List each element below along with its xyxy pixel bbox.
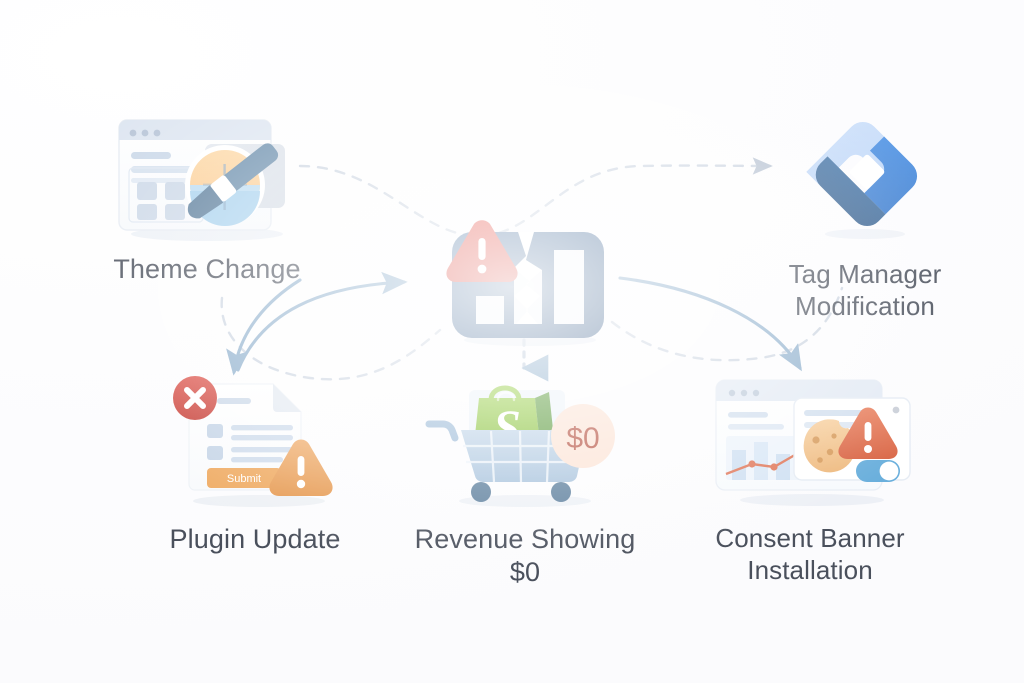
node-plugin-update[interactable]: Submit Plugin Update xyxy=(140,368,370,556)
node-label-consent-banner-installation: Consent Banner Installation xyxy=(715,523,904,586)
broken-bar-chart-warning-icon xyxy=(430,218,620,346)
node-label-theme-change: Theme Change xyxy=(113,253,300,286)
tag-manager-art xyxy=(800,112,930,247)
consent-banner-art xyxy=(700,368,920,513)
browser-cookie-consent-icon xyxy=(700,368,920,508)
revenue-badge-label: $0 xyxy=(566,422,599,455)
plugin-update-art: Submit xyxy=(155,368,355,513)
node-theme-change[interactable]: Theme Change xyxy=(92,112,322,286)
diagram-canvas: Theme Change xyxy=(0,0,1024,683)
node-broken-analytics[interactable] xyxy=(430,218,620,351)
node-label-revenue-showing-zero: Revenue Showing $0 xyxy=(405,523,645,589)
submit-button-label: Submit xyxy=(227,473,261,485)
broken-analytics-art xyxy=(430,218,620,351)
google-tag-manager-icon xyxy=(800,112,930,242)
shopping-cart-shopify-bag-icon: S $0 xyxy=(415,368,635,508)
theme-change-art xyxy=(107,112,307,247)
connector-theme-to-center xyxy=(238,282,404,370)
node-revenue-showing-zero[interactable]: S $0 Revenue Showing $0 xyxy=(405,368,645,589)
node-label-tag-manager-modification: Tag Manager Modification xyxy=(789,259,942,322)
revenue-art: S $0 xyxy=(415,368,635,513)
node-label-plugin-update: Plugin Update xyxy=(170,523,341,556)
node-tag-manager-modification[interactable]: Tag Manager Modification xyxy=(760,112,970,322)
document-error-warning-icon: Submit xyxy=(155,368,355,508)
browser-window-with-paintbrush-icon xyxy=(107,112,307,242)
node-consent-banner-installation[interactable]: Consent Banner Installation xyxy=(690,368,930,586)
